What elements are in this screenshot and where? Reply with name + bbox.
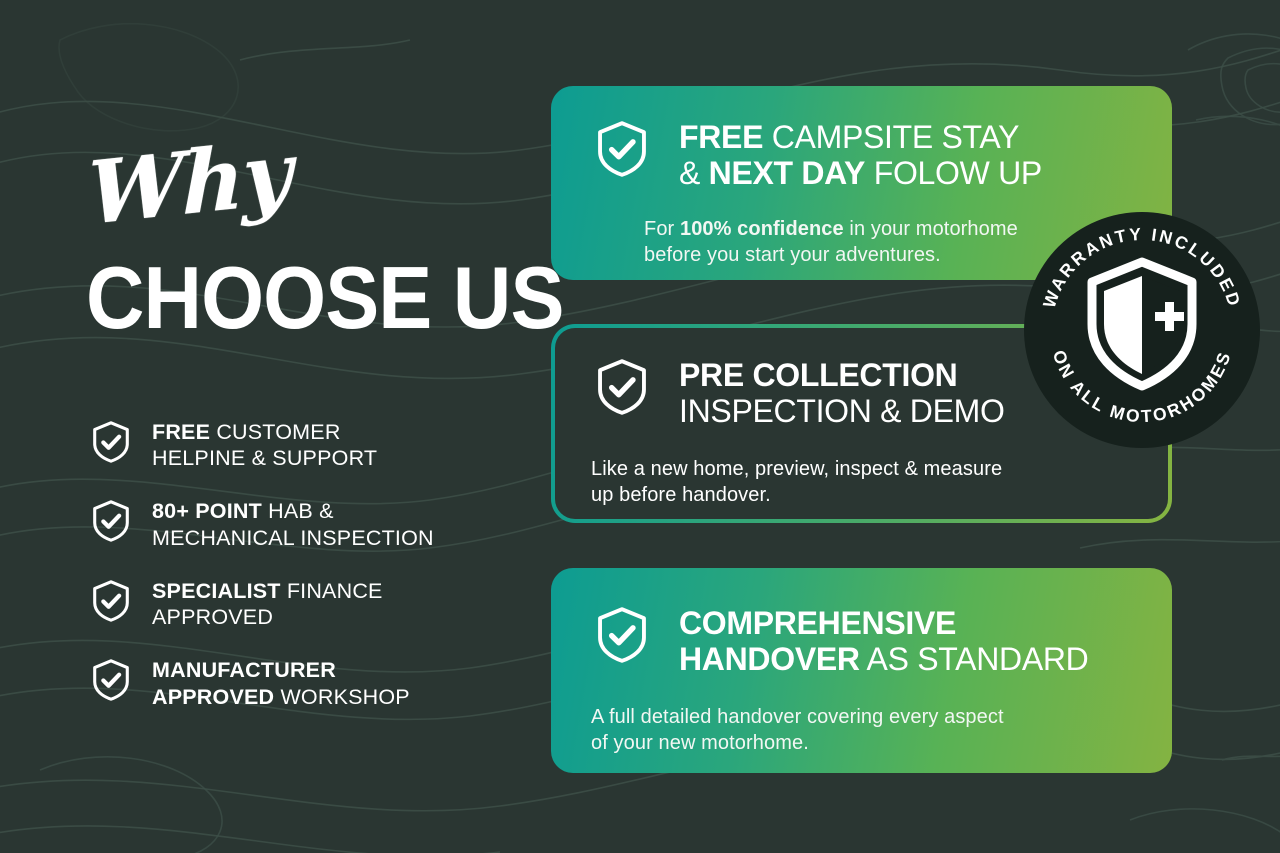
list-item-line2: APPROVED [152,605,273,629]
shield-check-icon [591,118,653,180]
list-item-text: MANUFACTURER APPROVED WORKSHOP [152,656,410,709]
list-item-line2-bold: APPROVED [152,685,274,709]
page-title: CHOOSE US [86,258,564,339]
card-title-line2-rest: FOLOW UP [865,155,1042,191]
heading-script-why: Why [88,130,290,238]
card-sub-line2: before you start your adventures. [644,244,941,266]
list-item-bold: FREE [152,420,210,444]
card-title-line2-bold: HANDOVER [679,641,860,677]
list-item-rest: FINANCE [281,579,383,603]
left-column: Why CHOOSE US FREE CUSTOMER HELPINE & SU… [0,0,540,853]
card-title: PRE COLLECTION INSPECTION & DEMO [679,354,1005,430]
list-item-line2: MECHANICAL INSPECTION [152,526,434,550]
card-title-bold: FREE [679,119,763,155]
list-item-line2: WORKSHOP [274,685,410,709]
shield-check-icon [88,657,134,703]
card-comprehensive-handover[interactable]: COMPREHENSIVE HANDOVER AS STANDARD A ful… [551,568,1172,773]
shield-check-icon [88,578,134,624]
card-title: COMPREHENSIVE HANDOVER AS STANDARD [679,602,1088,678]
card-title-bold: COMPREHENSIVE [679,605,956,641]
list-item-bold: 80+ POINT [152,499,262,523]
card-sub-bold: 100% confidence [680,218,844,240]
card-title-rest: CAMPSITE STAY [763,119,1019,155]
card-sub-line2: up before handover. [591,484,771,506]
card-title: FREE CAMPSITE STAY & NEXT DAY FOLOW UP [679,116,1042,192]
card-sub-rest: in your motorhome [844,218,1018,240]
card-subtitle: A full detailed handover covering every … [591,704,1138,757]
shield-plus-icon [1092,262,1192,386]
card-title-line2-rest: AS STANDARD [860,641,1089,677]
card-title-line2-bold: NEXT DAY [709,155,865,191]
card-title-bold: PRE COLLECTION [679,357,957,393]
list-item: FREE CUSTOMER HELPINE & SUPPORT [88,418,508,471]
list-item-bold: SPECIALIST [152,579,281,603]
card-sub-rest: Like a new home, preview, inspect & meas… [591,458,1002,480]
warranty-badge: WARRANTY INCLUDED ON ALL MOTORHOMES [1024,212,1260,448]
shield-check-icon [88,498,134,544]
list-item-line2: HELPINE & SUPPORT [152,446,377,470]
list-item: 80+ POINT HAB & MECHANICAL INSPECTION [88,497,508,550]
list-item-text: 80+ POINT HAB & MECHANICAL INSPECTION [152,497,434,550]
card-title-line2-rest: INSPECTION & DEMO [679,393,1005,429]
list-item-rest: CUSTOMER [210,420,340,444]
poster-canvas: Why CHOOSE US FREE CUSTOMER HELPINE & SU… [0,0,1280,853]
shield-check-icon [591,604,653,666]
list-item-text: SPECIALIST FINANCE APPROVED [152,577,383,630]
card-sub-line2: of your new motorhome. [591,732,809,754]
list-item: MANUFACTURER APPROVED WORKSHOP [88,656,508,709]
shield-check-icon [88,419,134,465]
card-subtitle: Like a new home, preview, inspect & meas… [591,456,1136,509]
list-item-rest: HAB & [262,499,334,523]
benefits-list: FREE CUSTOMER HELPINE & SUPPORT 80+ POIN… [88,418,508,736]
card-sub-prefix: For [644,218,680,240]
card-sub-rest: A full detailed handover covering every … [591,706,1004,728]
shield-check-icon [591,356,653,418]
list-item-bold: MANUFACTURER [152,658,336,682]
list-item: SPECIALIST FINANCE APPROVED [88,577,508,630]
card-title-line2-prefix: & [679,155,709,191]
list-item-text: FREE CUSTOMER HELPINE & SUPPORT [152,418,377,471]
